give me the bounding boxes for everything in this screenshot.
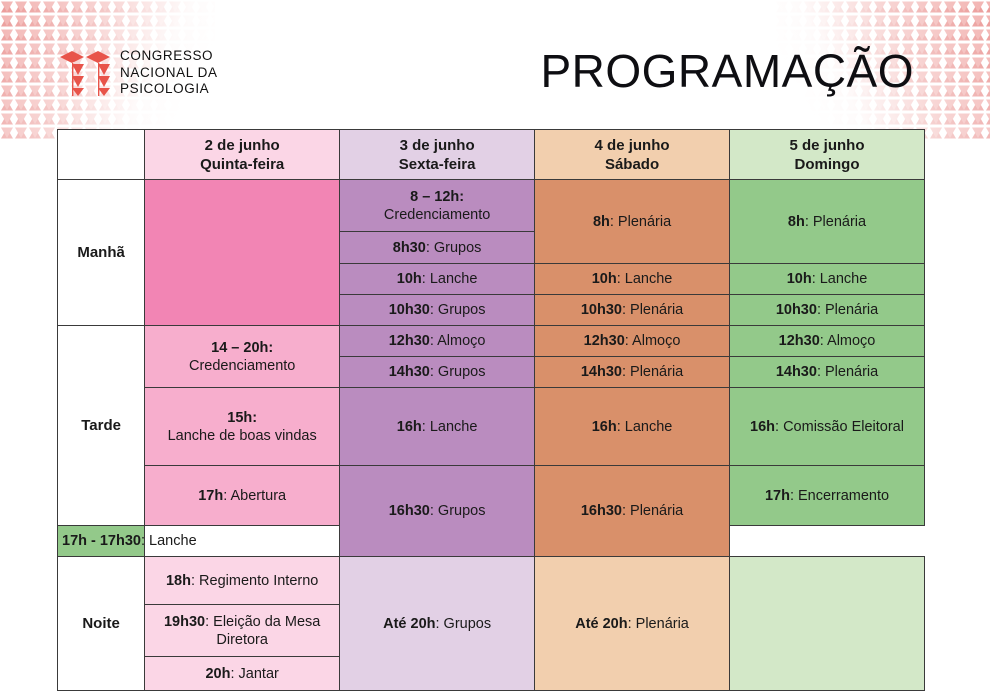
slot-desc: : Lanche	[617, 271, 673, 287]
table-row-manha-1: Manhã 8 – 12h:Credenciamento 8h: Plenári…	[58, 180, 925, 232]
slot-time: 10h30	[776, 302, 817, 318]
slot-desc: : Lanche	[422, 271, 478, 287]
cell-tarde-day3-slot2: 14h30: Plenária	[535, 357, 730, 388]
slot-desc: : Plenária	[817, 364, 878, 380]
slot-desc: : Grupos	[430, 302, 486, 318]
slot-desc: : Plenária	[805, 214, 866, 230]
slot-desc: : Grupos	[436, 616, 492, 632]
slot-desc: : Grupos	[426, 240, 482, 256]
cell-tarde-day1-slot3: 17h: Abertura	[145, 466, 340, 526]
slot-desc: : Lanche	[812, 271, 868, 287]
slot-time: 16h	[592, 419, 617, 435]
programacao-page: CONGRESSONACIONAL DAPSICOLOGIA PROGRAMAÇ…	[0, 0, 990, 692]
slot-time: 10h	[592, 271, 617, 287]
slot-desc: : Almoço	[430, 333, 486, 349]
cell-tarde-day4-slot5: 17h - 17h30: Lanche	[58, 526, 145, 557]
slot-time: 15h:	[227, 410, 257, 426]
slot-time: 17h - 17h30	[62, 533, 141, 549]
slot-time: 8h30	[393, 240, 426, 256]
cell-tarde-day4-slot3: 16h: Comissão Eleitoral	[730, 388, 925, 466]
slot-desc: : Plenária	[610, 214, 671, 230]
period-label-manha: Manhã	[58, 180, 145, 326]
slot-desc: : Abertura	[223, 488, 286, 504]
cell-manha-day2-slot3: 10h: Lanche	[340, 264, 535, 295]
slot-time: Até 20h	[575, 616, 627, 632]
slot-time: Até 20h	[383, 616, 435, 632]
slot-time: 14h30	[776, 364, 817, 380]
logo-line-1: CONGRESSO	[120, 48, 213, 63]
day-3-weekday: Sábado	[605, 156, 659, 173]
cell-tarde-day3-slot3: 16h: Lanche	[535, 388, 730, 466]
cell-tarde-day1-slot1: 14 – 20h:Credenciamento	[145, 326, 340, 388]
table-row-tarde-1: Tarde 14 – 20h:Credenciamento 12h30: Alm…	[58, 326, 925, 357]
slot-desc: Credenciamento	[384, 207, 490, 223]
logo-line-3: PSICOLOGIA	[120, 81, 209, 96]
slot-time: 16h	[397, 419, 422, 435]
cell-tarde-day3-slot4: 16h30: Plenária	[535, 466, 730, 557]
logo-wordmark: CONGRESSONACIONAL DAPSICOLOGIA	[120, 48, 218, 98]
table-row-noite-1: Noite 18h: Regimento Interno Até 20h: Gr…	[58, 557, 925, 605]
slot-time: 14 – 20h:	[211, 340, 273, 356]
slot-time: 20h	[205, 666, 230, 682]
schedule-table: 2 de junho Quinta-feira 3 de junho Sexta…	[57, 129, 925, 691]
slot-desc: : Comissão Eleitoral	[775, 419, 904, 435]
slot-desc: : Plenária	[622, 302, 683, 318]
slot-time: 12h30	[584, 333, 625, 349]
day-1-date: 2 de junho	[205, 137, 280, 154]
cell-manha-day1	[145, 180, 340, 326]
cell-tarde-day3-slot1: 12h30: Almoço	[535, 326, 730, 357]
cell-noite-day3-slot1: Até 20h: Plenária	[535, 557, 730, 691]
cell-noite-day1-slot2: 19h30: Eleição da Mesa Diretora	[145, 605, 340, 657]
slot-time: 14h30	[389, 364, 430, 380]
cell-tarde-day4-slot2: 14h30: Plenária	[730, 357, 925, 388]
table-header-row: 2 de junho Quinta-feira 3 de junho Sexta…	[58, 130, 925, 180]
slot-desc: : Lanche	[141, 533, 197, 549]
slot-desc: : Grupos	[430, 503, 486, 519]
cell-tarde-day2-slot1: 12h30: Almoço	[340, 326, 535, 357]
day-4-date: 5 de junho	[790, 137, 865, 154]
cell-manha-day4-slot1: 8h: Plenária	[730, 180, 925, 264]
slot-time: 16h	[750, 419, 775, 435]
table-row-tarde-3: 15h:Lanche de boas vindas 16h: Lanche 16…	[58, 388, 925, 466]
slot-time: 10h30	[581, 302, 622, 318]
cell-tarde-day2-slot4: 16h30: Grupos	[340, 466, 535, 557]
slot-desc: : Plenária	[628, 616, 689, 632]
cell-manha-day2-slot1: 8 – 12h:Credenciamento	[340, 180, 535, 232]
slot-desc: : Encerramento	[790, 488, 889, 504]
cell-tarde-day4-slot4: 17h: Encerramento	[730, 466, 925, 526]
day-1-weekday: Quinta-feira	[200, 156, 284, 173]
brand-logo: CONGRESSONACIONAL DAPSICOLOGIA	[58, 48, 218, 98]
cell-noite-day2-slot1: Até 20h: Grupos	[340, 557, 535, 691]
cell-manha-day2-slot4: 10h30: Grupos	[340, 295, 535, 326]
cell-manha-day4-slot3: 10h30: Plenária	[730, 295, 925, 326]
slot-desc: : Grupos	[430, 364, 486, 380]
cell-manha-day4-slot2: 10h: Lanche	[730, 264, 925, 295]
day-3-date: 4 de junho	[595, 137, 670, 154]
period-label-noite: Noite	[58, 557, 145, 691]
logo-mark-icon	[58, 49, 110, 97]
slot-time: 16h30	[389, 503, 430, 519]
cell-tarde-day2-slot2: 14h30: Grupos	[340, 357, 535, 388]
cell-manha-day2-slot2: 8h30: Grupos	[340, 232, 535, 264]
slot-time: 14h30	[581, 364, 622, 380]
slot-time: 8 – 12h:	[410, 189, 464, 205]
cell-tarde-day4-slot1: 12h30: Almoço	[730, 326, 925, 357]
slot-desc: Credenciamento	[189, 358, 295, 374]
slot-desc: : Lanche	[422, 419, 478, 435]
slot-time: 10h30	[389, 302, 430, 318]
cell-noite-day1-slot1: 18h: Regimento Interno	[145, 557, 340, 605]
slot-desc: Lanche de boas vindas	[168, 428, 317, 444]
slot-time: 18h	[166, 573, 191, 589]
slot-desc: : Plenária	[622, 503, 683, 519]
cell-tarde-day2-slot3: 16h: Lanche	[340, 388, 535, 466]
cell-tarde-day1-slot2: 15h:Lanche de boas vindas	[145, 388, 340, 466]
page-header: CONGRESSONACIONAL DAPSICOLOGIA PROGRAMAÇ…	[0, 0, 990, 122]
cell-manha-day3-slot1: 8h: Plenária	[535, 180, 730, 264]
slot-time: 10h	[397, 271, 422, 287]
slot-desc: : Plenária	[817, 302, 878, 318]
slot-time: 10h	[787, 271, 812, 287]
slot-time: 17h	[198, 488, 223, 504]
day-2-weekday: Sexta-feira	[399, 156, 476, 173]
slot-desc: : Almoço	[625, 333, 681, 349]
cell-noite-day1-slot3: 20h: Jantar	[145, 657, 340, 691]
cell-manha-day3-slot3: 10h30: Plenária	[535, 295, 730, 326]
day-2-date: 3 de junho	[400, 137, 475, 154]
slot-time: 16h30	[581, 503, 622, 519]
slot-desc: : Jantar	[230, 666, 278, 682]
slot-desc: : Plenária	[622, 364, 683, 380]
page-title: PROGRAMAÇÃO	[540, 44, 914, 98]
corner-cell	[58, 130, 145, 180]
slot-desc: : Lanche	[617, 419, 673, 435]
column-header-day-3: 4 de junho Sábado	[535, 130, 730, 180]
slot-time: 12h30	[389, 333, 430, 349]
column-header-day-4: 5 de junho Domingo	[730, 130, 925, 180]
period-label-tarde: Tarde	[58, 326, 145, 526]
slot-desc: : Almoço	[820, 333, 876, 349]
slot-time: 8h	[788, 214, 805, 230]
column-header-day-2: 3 de junho Sexta-feira	[340, 130, 535, 180]
cell-manha-day3-slot2: 10h: Lanche	[535, 264, 730, 295]
cell-noite-day4-slot1	[730, 557, 925, 691]
slot-time: 12h30	[779, 333, 820, 349]
day-4-weekday: Domingo	[795, 156, 860, 173]
slot-time: 17h	[765, 488, 790, 504]
slot-desc: : Regimento Interno	[191, 573, 318, 589]
column-header-day-1: 2 de junho Quinta-feira	[145, 130, 340, 180]
slot-time: 8h	[593, 214, 610, 230]
slot-desc: : Eleição da Mesa Diretora	[205, 614, 320, 648]
slot-time: 19h30	[164, 614, 205, 630]
logo-line-2: NACIONAL DA	[120, 65, 218, 80]
